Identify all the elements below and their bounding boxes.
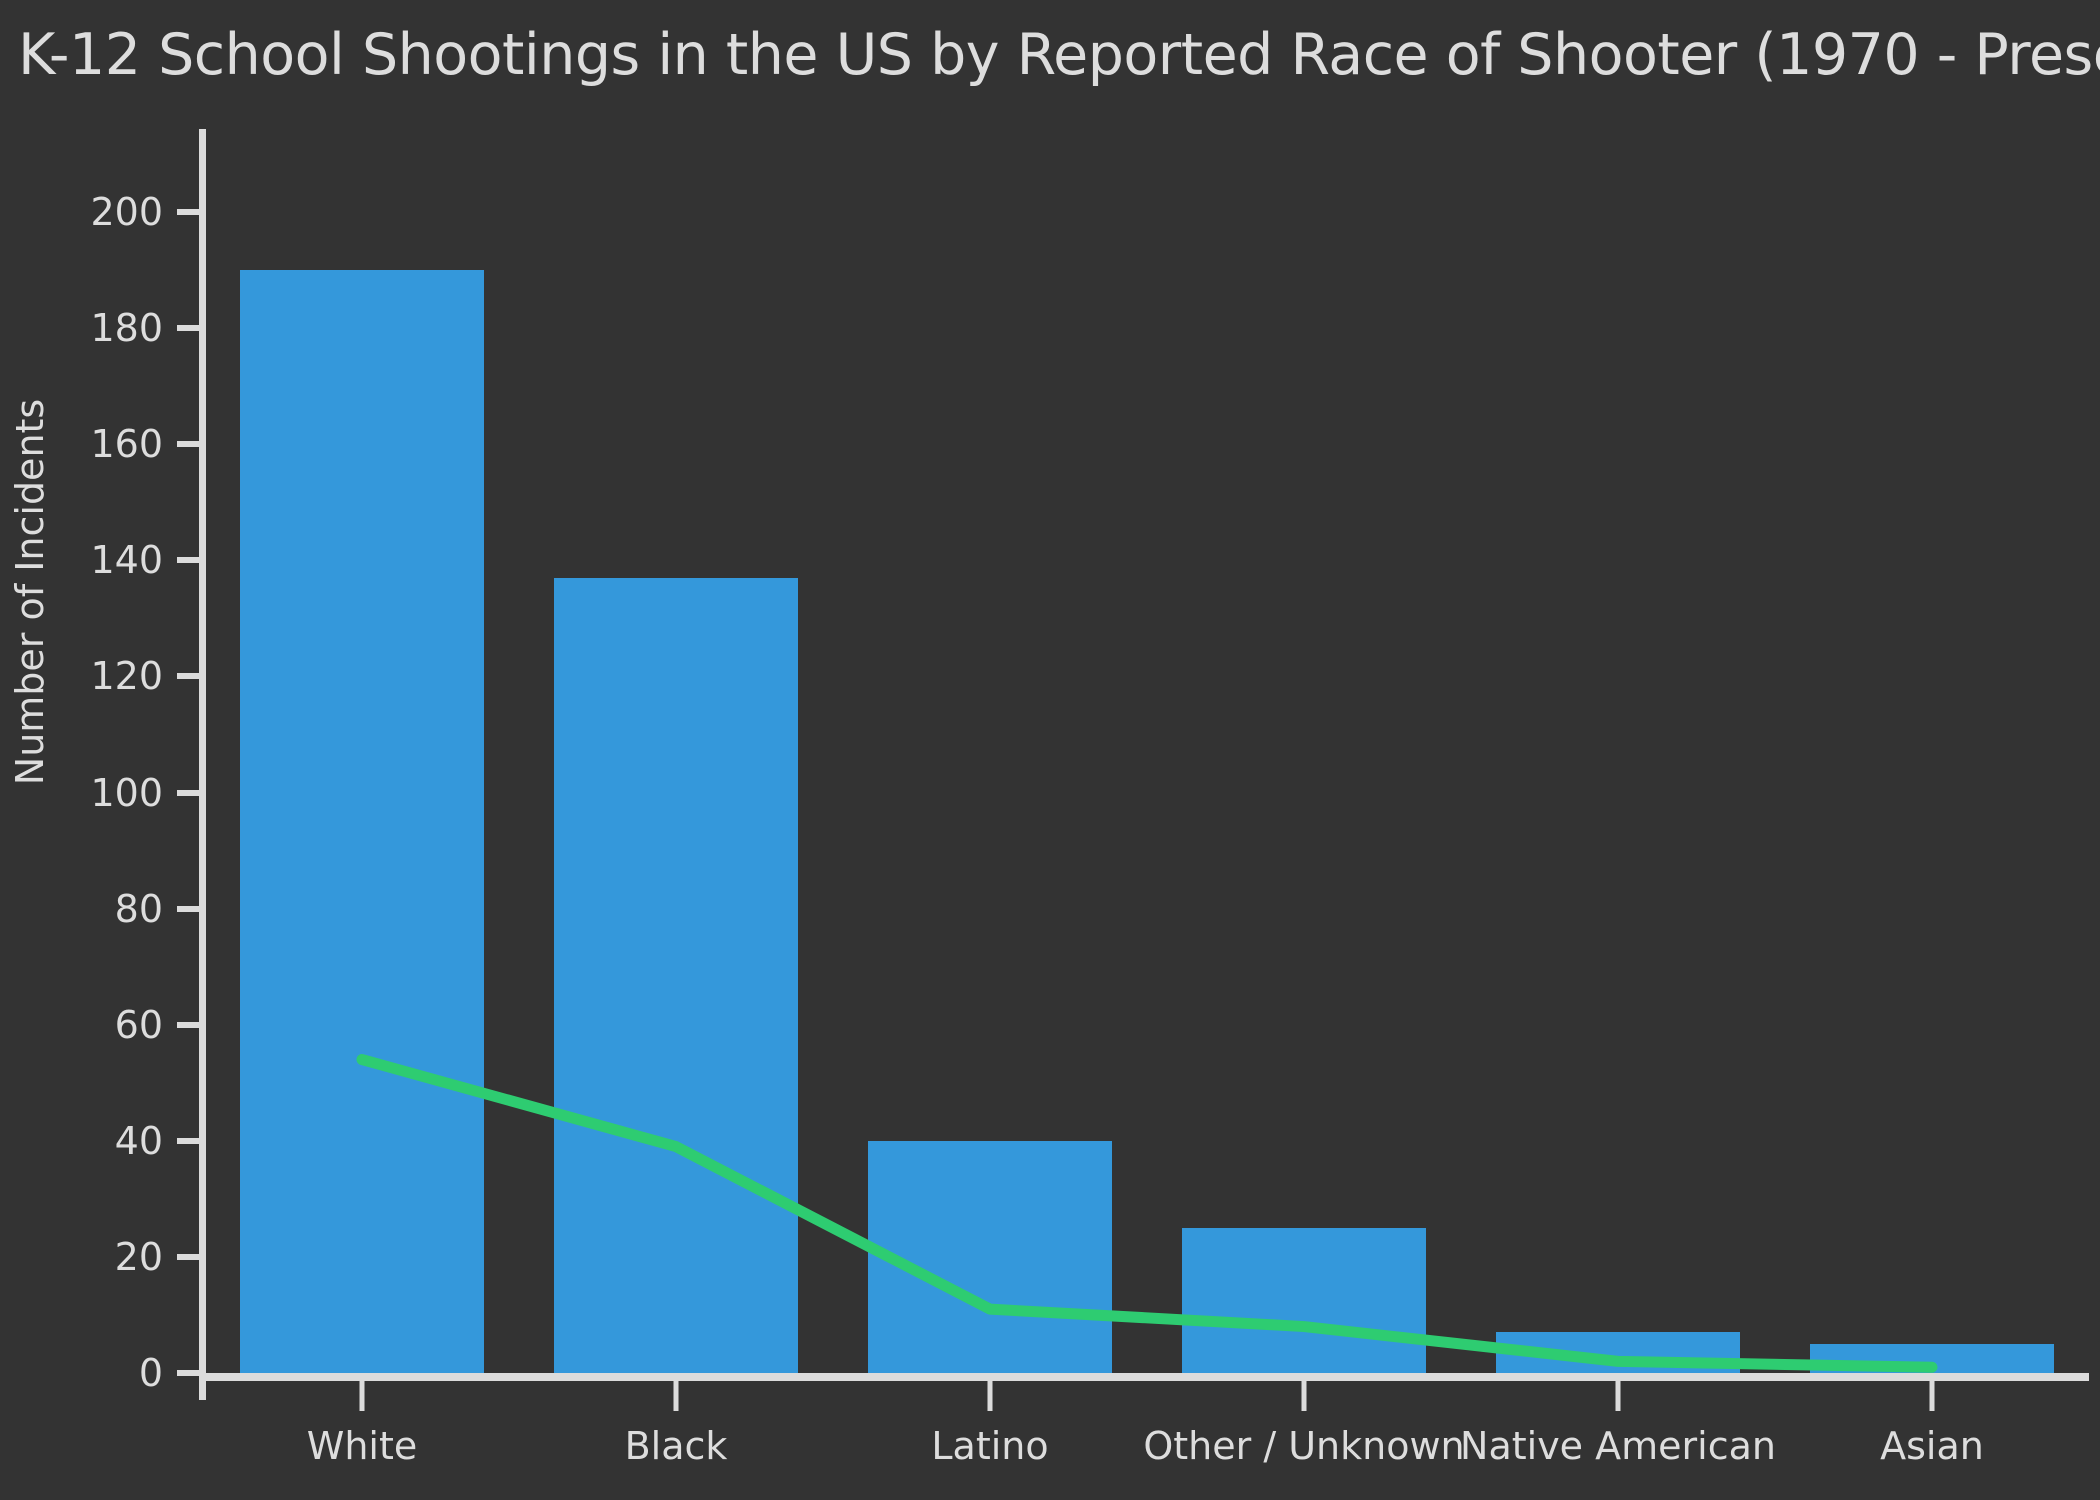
x-tick-label: Black [625, 1424, 728, 1468]
x-tick-mark [674, 1381, 679, 1411]
x-tick-mark [1616, 1381, 1621, 1411]
chart-canvas: K-12 School Shootings in the US by Repor… [0, 0, 2100, 1500]
x-tick-label: White [307, 1424, 418, 1468]
x-tick-mark [1930, 1381, 1935, 1411]
x-axis-line [199, 1373, 2089, 1381]
x-tick-mark [360, 1381, 365, 1411]
bar-black[interactable] [554, 578, 799, 1373]
bar-other-unknown[interactable] [1182, 1228, 1427, 1373]
bar-asian[interactable] [1810, 1344, 2055, 1373]
x-tick-label: Other / Unknown [1143, 1424, 1464, 1468]
bar-white[interactable] [240, 270, 485, 1373]
x-tick-mark [988, 1381, 993, 1411]
bar-native-american[interactable] [1496, 1332, 1741, 1373]
bars-layer [0, 0, 2100, 1373]
x-tick-mark [1302, 1381, 1307, 1411]
bar-latino[interactable] [868, 1141, 1113, 1373]
x-tick-label: Native American [1460, 1424, 1776, 1468]
x-tick-label: Asian [1880, 1424, 1984, 1468]
x-tick-label: Latino [931, 1424, 1048, 1468]
